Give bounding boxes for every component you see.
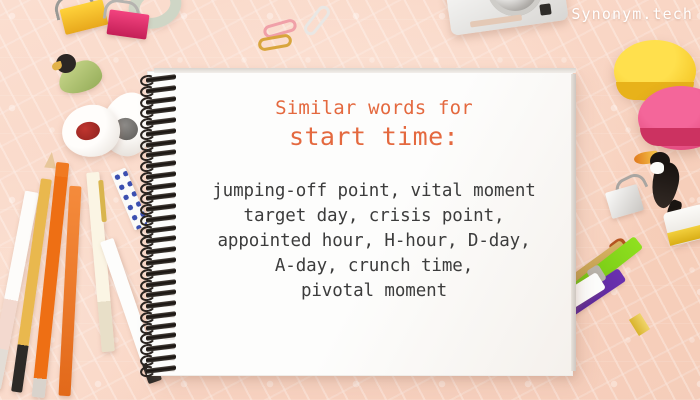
spiral-coil [138,130,178,135]
spiral-coil [138,302,178,307]
spiral-coil [138,291,178,296]
spiral-coil [138,151,178,156]
synonym-line: target day, crisis point, [186,204,562,229]
synonym-line: appointed hour, H-hour, D-day, [186,229,562,254]
title-headword: start time: [186,121,562,153]
spiral-coil [138,345,178,350]
spiral-coil [138,367,178,372]
synonym-list: jumping-off point, vital moment target d… [186,179,562,304]
spiral-coil [138,281,178,286]
spiral-coil [138,248,178,253]
spiral-coil [138,119,178,124]
spiral-coil [138,205,178,210]
page-stack-right-edge [571,74,576,371]
spiral-coil [138,334,178,339]
title-prefix: Similar words for [186,96,562,121]
pink-macaron-base-icon [640,128,700,146]
spiral-coil [138,313,178,318]
synonym-line: jumping-off point, vital moment [186,179,562,204]
spiral-coil [138,324,178,329]
spiral-coil [138,184,178,189]
synonym-line: A-day, crunch time, [186,254,562,279]
pink-binder-clip-icon [106,9,149,39]
spiral-coil [138,194,178,199]
spiral-coil [138,259,178,264]
spiral-coil [138,270,178,275]
synonym-line: pivotal moment [186,279,562,304]
spiral-coil [138,98,178,103]
spiral-coil [138,108,178,113]
spiral-coil [138,173,178,178]
page-title: Similar words for start time: [186,72,562,153]
spiral-coil [138,76,178,81]
spiral-coil [138,87,178,92]
site-watermark: Synonym.tech [571,5,693,23]
spiral-coil [138,141,178,146]
notepad: Similar words for start time: jumping-of… [148,72,572,375]
spiral-coil [138,237,178,242]
toucan-chest-icon [650,162,664,174]
desk-background: Similar words for start time: jumping-of… [0,0,700,400]
spiral-coil [138,162,178,167]
spiral-coil [138,216,178,221]
spiral-coil [138,227,178,232]
camera-button-icon [539,3,551,15]
spiral-binding [138,76,182,372]
notepad-content: Similar words for start time: jumping-of… [186,72,562,375]
spiral-coil [138,356,178,361]
